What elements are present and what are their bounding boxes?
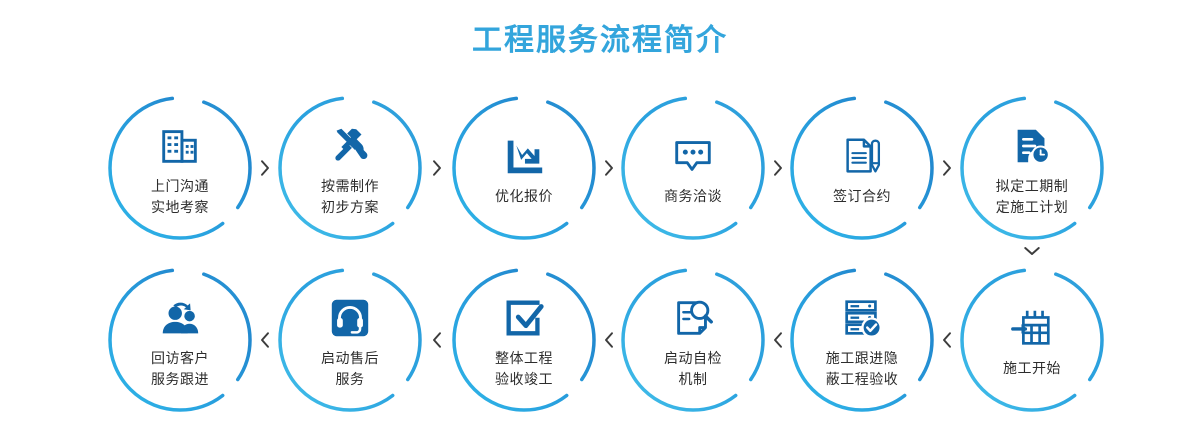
step-node-1[interactable]: 上门沟通 实地考察: [100, 88, 260, 248]
step-node-6[interactable]: 拟定工期制 定施工计划: [952, 88, 1112, 248]
step-label-line1: 启动售后: [321, 348, 379, 369]
step-label-line1: 回访客户: [151, 348, 209, 369]
step-label-line1: 施工开始: [1003, 358, 1061, 379]
step-node-2[interactable]: 按需制作 初步方案: [270, 88, 430, 248]
step-node-11[interactable]: 启动售后 服务: [270, 260, 430, 420]
step-label-line1: 按需制作: [321, 176, 379, 197]
chevron-down-icon: [1021, 240, 1043, 262]
step-node-4[interactable]: 商务洽谈: [613, 88, 773, 248]
step-node-12[interactable]: 回访客户 服务跟进: [100, 260, 260, 420]
chart-down-arrow-icon: [501, 133, 547, 179]
checkbox-check-icon: [501, 295, 547, 341]
step-node-5[interactable]: 签订合约: [782, 88, 942, 248]
building-icon: [157, 123, 203, 169]
step-label-line1: 施工跟进隐: [826, 348, 899, 369]
step-label-line2: 服务跟进: [151, 369, 209, 390]
contract-pen-icon: [839, 133, 885, 179]
step-node-10[interactable]: 整体工程 验收竣工: [444, 260, 604, 420]
step-label-line1: 拟定工期制: [996, 176, 1069, 197]
document-search-icon: [670, 295, 716, 341]
step-label-line1: 上门沟通: [151, 176, 209, 197]
customer-followup-icon: [157, 295, 203, 341]
step-label-line2: 机制: [679, 369, 708, 390]
step-label-line1: 启动自检: [664, 348, 722, 369]
step-label-line1: 签订合约: [833, 186, 891, 207]
step-label-line2: 验收竣工: [495, 369, 553, 390]
page-title: 工程服务流程简介: [0, 22, 1200, 60]
speech-bubble-icon: [670, 133, 716, 179]
step-node-8[interactable]: 施工跟进隐 蔽工程验收: [782, 260, 942, 420]
step-label-line1: 优化报价: [495, 186, 553, 207]
flow-row-top: 上门沟通 实地考察: [0, 88, 1200, 248]
step-label-line2: 服务: [336, 369, 365, 390]
step-node-9[interactable]: 启动自检 机制: [613, 260, 773, 420]
step-label-line2: 初步方案: [321, 197, 379, 218]
step-label-line1: 商务洽谈: [664, 186, 722, 207]
step-node-7[interactable]: 施工开始: [952, 260, 1112, 420]
wrench-screwdriver-icon: [327, 123, 373, 169]
document-clock-icon: [1009, 123, 1055, 169]
flow-row-bottom: 回访客户 服务跟进: [0, 260, 1200, 420]
headset-icon: [327, 295, 373, 341]
step-label-line2: 定施工计划: [996, 197, 1069, 218]
step-label-line2: 实地考察: [151, 197, 209, 218]
step-label-line1: 整体工程: [495, 348, 553, 369]
process-flow-infographic: 工程服务流程简介: [0, 0, 1200, 440]
step-label-line2: 蔽工程验收: [826, 369, 899, 390]
calendar-arrow-icon: [1009, 305, 1055, 351]
step-node-3[interactable]: 优化报价: [444, 88, 604, 248]
server-check-icon: [839, 295, 885, 341]
